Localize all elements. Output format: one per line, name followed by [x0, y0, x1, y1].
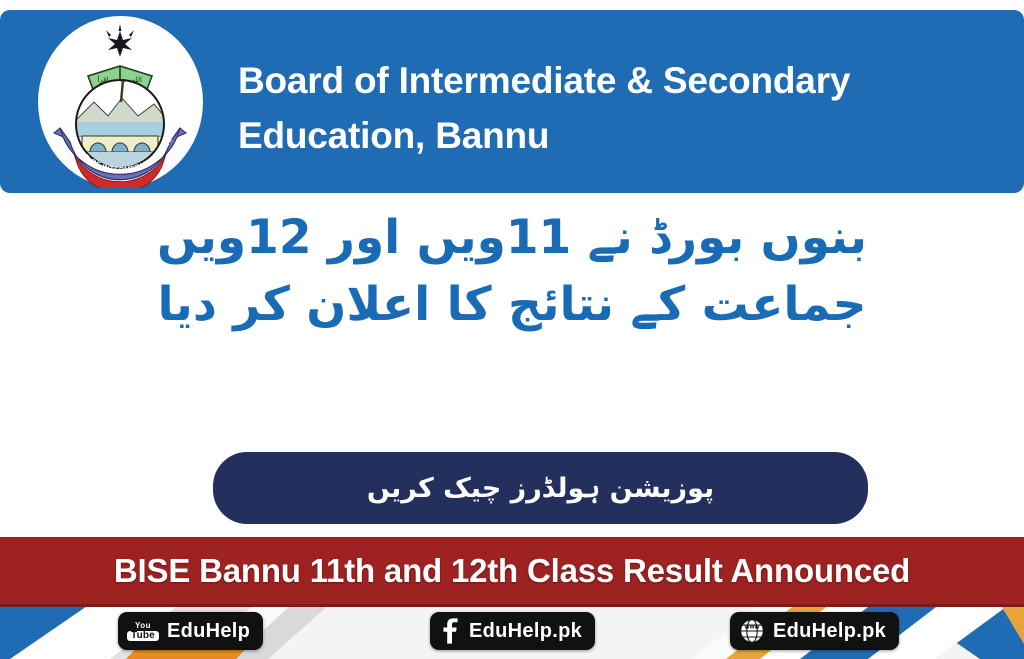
- svg-text:www: www: [744, 623, 760, 630]
- check-position-holders-label: پوزیشن ہولڈرز چیک کریں: [367, 473, 714, 504]
- header-bar: اقرأ الله: [0, 10, 1024, 193]
- facebook-icon: [439, 618, 461, 644]
- urdu-headline-line1: بنوں بورڈ نے 11ویں اور 12ویں: [50, 205, 974, 272]
- facebook-badge[interactable]: EduHelp.pk: [430, 612, 595, 650]
- page-title-line2: Education, Bannu: [238, 109, 1024, 164]
- result-announcement-banner: BISE Bannu 11th and 12th Class Result An…: [0, 537, 1024, 604]
- website-badge-label: EduHelp.pk: [773, 620, 886, 643]
- page-title-line1: Board of Intermediate & Secondary: [238, 54, 1024, 109]
- board-crest-icon: اقرأ الله: [38, 16, 203, 188]
- poster-root: اقرأ الله: [0, 0, 1024, 659]
- globe-www-icon: www: [739, 618, 765, 644]
- facebook-badge-label: EduHelp.pk: [469, 620, 582, 643]
- youtube-icon-you: You: [135, 622, 151, 630]
- footer-strip: You Tube EduHelp EduHelp.pk www: [0, 604, 1024, 659]
- result-announcement-text: BISE Bannu 11th and 12th Class Result An…: [114, 552, 910, 590]
- board-logo: اقرأ الله: [38, 16, 203, 188]
- youtube-badge-label: EduHelp: [167, 620, 250, 643]
- youtube-icon: You Tube: [127, 622, 159, 641]
- youtube-icon-tube: Tube: [127, 631, 159, 641]
- youtube-badge[interactable]: You Tube EduHelp: [118, 612, 263, 650]
- header-inner: اقرأ الله: [0, 10, 1024, 193]
- website-badge[interactable]: www EduHelp.pk: [730, 612, 899, 650]
- social-badges: You Tube EduHelp EduHelp.pk www: [0, 604, 1024, 659]
- urdu-headline: بنوں بورڈ نے 11ویں اور 12ویں جماعت کے نت…: [50, 205, 974, 338]
- page-title: Board of Intermediate & Secondary Educat…: [238, 54, 1024, 164]
- check-position-holders-button[interactable]: پوزیشن ہولڈرز چیک کریں: [213, 452, 868, 524]
- urdu-headline-line2: جماعت کے نتائج کا اعلان کر دیا: [50, 272, 974, 339]
